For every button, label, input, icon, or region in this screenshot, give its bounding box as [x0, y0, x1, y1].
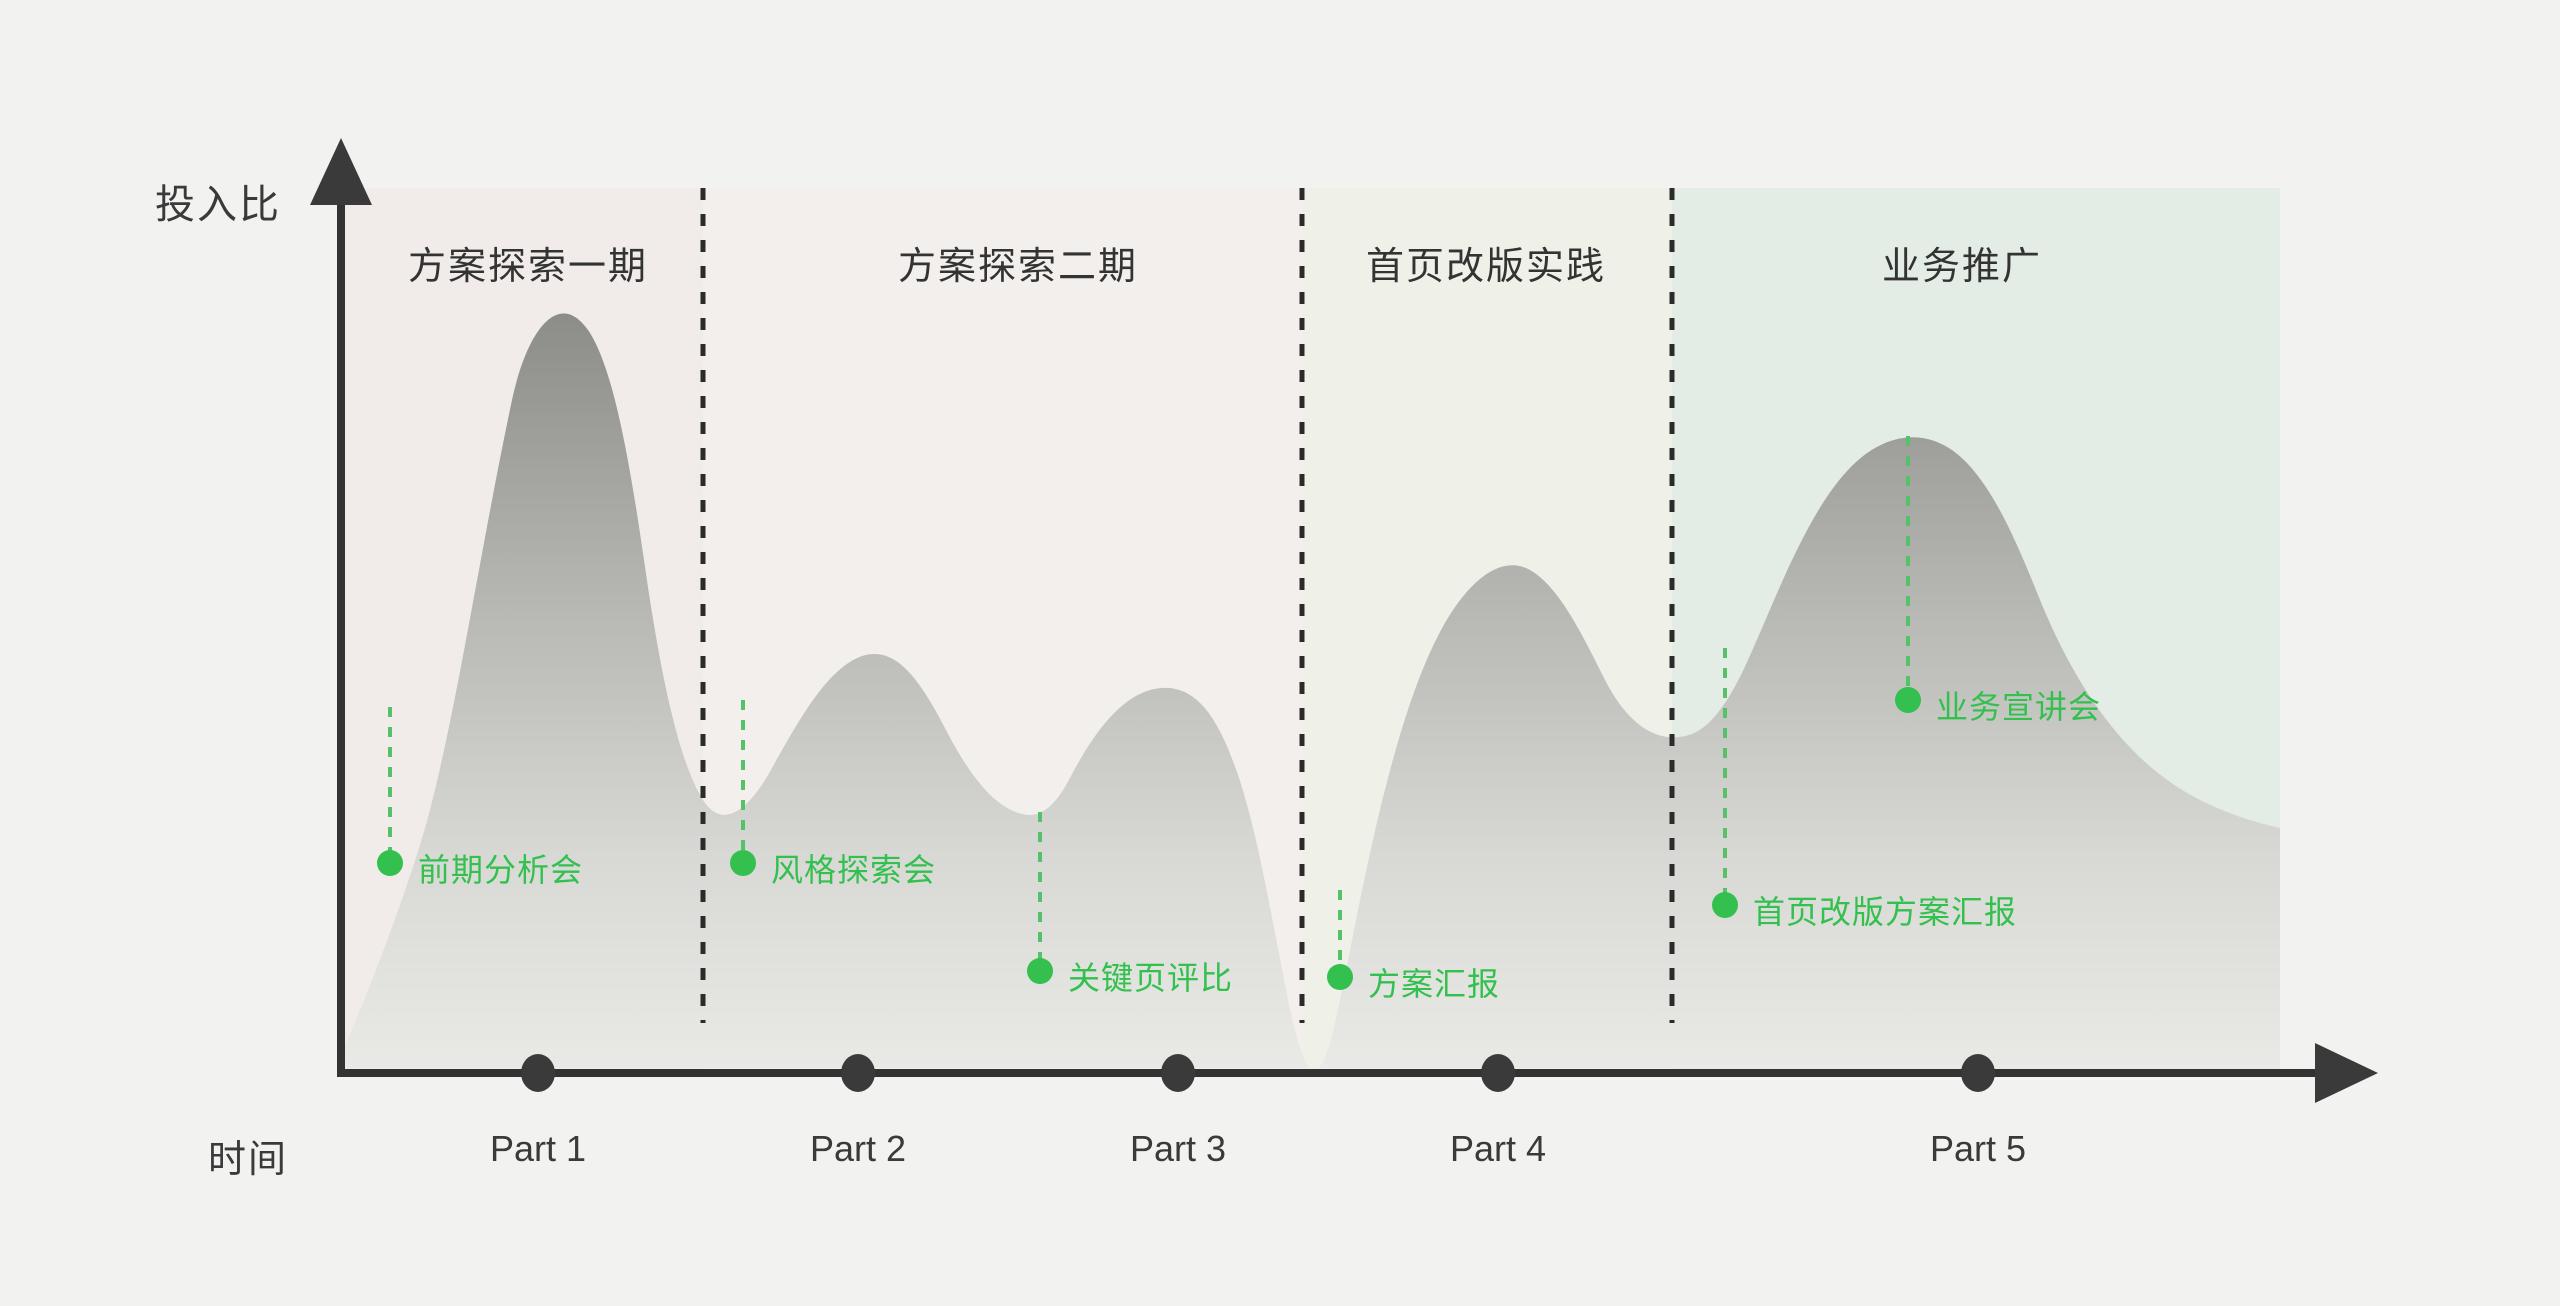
y-axis-title: 投入比 [155, 172, 281, 230]
section-title-2: 方案探索二期 [898, 235, 1138, 290]
tick-dot-part-3 [1161, 1054, 1195, 1092]
milestone-dot[interactable] [1712, 892, 1738, 918]
tick-dot-part-4 [1481, 1054, 1515, 1092]
chart-canvas: 投入比 方案探索一期 方案探索二期 首页改版实践 业务推广 前期分析会 风格探索… [0, 0, 2560, 1306]
milestone-dot[interactable] [730, 850, 756, 876]
y-axis-arrow-icon [310, 138, 372, 205]
x-tick-label-part-4: Part 4 [1450, 1128, 1546, 1170]
milestone-label-5: 首页改版方案汇报 [1753, 887, 2017, 933]
milestone-dot[interactable] [1327, 964, 1353, 990]
milestone-dot[interactable] [1895, 687, 1921, 713]
milestone-label-3: 关键页评比 [1068, 953, 1233, 999]
x-tick-label-part-1: Part 1 [490, 1128, 586, 1170]
milestone-label-4: 方案汇报 [1368, 959, 1500, 1005]
section-title-1: 方案探索一期 [408, 235, 648, 290]
tick-dot-part-5 [1961, 1054, 1995, 1092]
section-title-3: 首页改版实践 [1366, 235, 1606, 290]
milestone-label-6: 业务宣讲会 [1936, 682, 2101, 728]
x-tick-label-part-3: Part 3 [1130, 1128, 1226, 1170]
milestone-label-1: 前期分析会 [418, 845, 583, 891]
milestone-label-2: 风格探索会 [771, 845, 936, 891]
milestone-dot[interactable] [1027, 958, 1053, 984]
x-tick-label-part-2: Part 2 [810, 1128, 906, 1170]
x-tick-label-part-5: Part 5 [1930, 1128, 2026, 1170]
tick-dot-part-2 [841, 1054, 875, 1092]
investment-timeline-chart [0, 0, 2560, 1306]
section-title-4: 业务推广 [1882, 235, 2042, 290]
x-axis-title: 时间 [208, 1128, 288, 1183]
milestone-dot[interactable] [377, 850, 403, 876]
tick-dot-part-1 [521, 1054, 555, 1092]
right-fade-overlay [2100, 120, 2560, 1073]
